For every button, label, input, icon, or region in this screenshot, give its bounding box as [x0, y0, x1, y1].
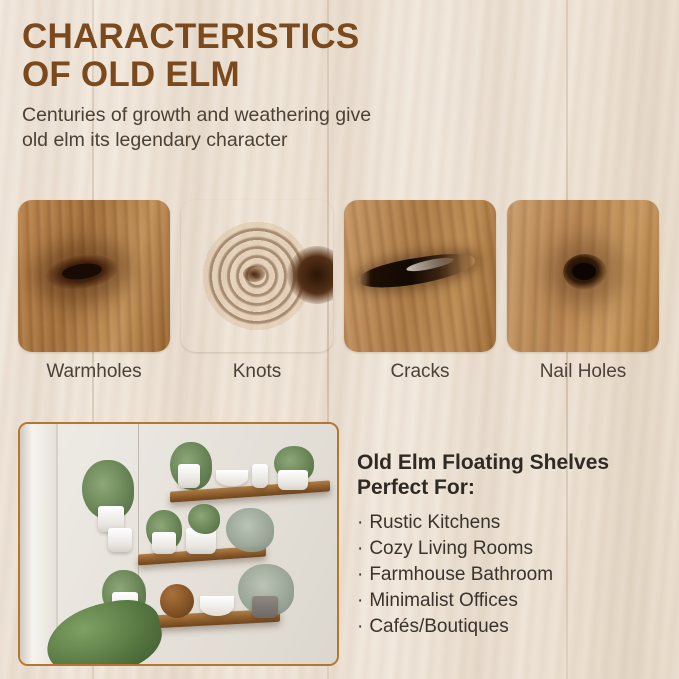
bullet-icon: · [357, 564, 363, 585]
plant-decor [226, 508, 274, 552]
door-frame [20, 424, 58, 664]
feature-tile-label: Nail Holes [507, 361, 659, 383]
bullet-icon: · [357, 590, 363, 611]
list-item-label: Minimalist Offices [369, 590, 518, 611]
feature-tile-label: Warmholes [18, 361, 170, 383]
list-item-label: Cozy Living Rooms [369, 538, 533, 559]
list-item-label: Rustic Kitchens [369, 512, 500, 533]
feature-tile-label: Knots [181, 361, 333, 383]
feature-tile-label: Cracks [344, 361, 496, 383]
list-item-label: Cafés/Boutiques [369, 616, 508, 637]
feature-tile-nail-holes: Nail Holes [507, 200, 659, 383]
lifestyle-photo [18, 422, 339, 666]
feature-tile-warmholes: Warmholes [18, 200, 170, 383]
feature-tile-cracks: Cracks [344, 200, 496, 383]
product-infographic: CHARACTERISTICS OF OLD ELM Centuries of … [0, 0, 679, 679]
list-item: ·Rustic Kitchens [357, 510, 609, 536]
list-item: ·Cozy Living Rooms [357, 536, 609, 562]
page-title-line1: CHARACTERISTICS [22, 17, 359, 56]
headline-block: CHARACTERISTICS OF OLD ELM Centuries of … [22, 18, 662, 153]
wood-nail-hole-icon [507, 200, 659, 352]
pot-decor [252, 596, 278, 618]
uses-block: Old Elm Floating Shelves Perfect For: ·R… [357, 422, 609, 666]
pot-decor [278, 470, 308, 490]
list-item-label: Farmhouse Bathroom [369, 564, 553, 585]
pot-decor [178, 464, 200, 488]
feature-tile-knots: Knots [181, 200, 333, 383]
bullet-icon: · [357, 538, 363, 559]
feature-tile-row: Warmholes Knots Cracks Nai [18, 200, 662, 383]
uses-list: ·Rustic Kitchens ·Cozy Living Rooms ·Far… [357, 510, 609, 640]
wood-warmhole-icon [18, 200, 170, 352]
pot-decor [152, 532, 176, 554]
plant-decor [188, 504, 220, 534]
list-item: ·Farmhouse Bathroom [357, 562, 609, 588]
uses-heading-line2: Perfect For: [357, 476, 475, 499]
subheading-line2: old elm its legendary character [22, 129, 288, 151]
wood-ball-decor [160, 584, 194, 618]
subheading-line1: Centuries of growth and weathering give [22, 104, 371, 126]
bottom-section: Old Elm Floating Shelves Perfect For: ·R… [18, 422, 662, 666]
list-item: ·Cafés/Boutiques [357, 614, 609, 640]
nail-hole-mark [563, 254, 607, 290]
pot-decor [252, 464, 268, 488]
wood-knot-icon [181, 200, 333, 352]
knot-core [243, 266, 265, 282]
bowl-decor [216, 470, 248, 486]
page-title-line2: OF OLD ELM [22, 55, 240, 94]
pot-decor [108, 528, 132, 552]
subheading: Centuries of growth and weathering give … [22, 103, 662, 153]
uses-heading: Old Elm Floating Shelves Perfect For: [357, 450, 609, 500]
uses-heading-line1: Old Elm Floating Shelves [357, 451, 609, 474]
bowl-decor [200, 596, 234, 616]
bullet-icon: · [357, 616, 363, 637]
page-title: CHARACTERISTICS OF OLD ELM [22, 18, 662, 94]
list-item: ·Minimalist Offices [357, 588, 609, 614]
bullet-icon: · [357, 512, 363, 533]
wood-crack-icon [344, 200, 496, 352]
